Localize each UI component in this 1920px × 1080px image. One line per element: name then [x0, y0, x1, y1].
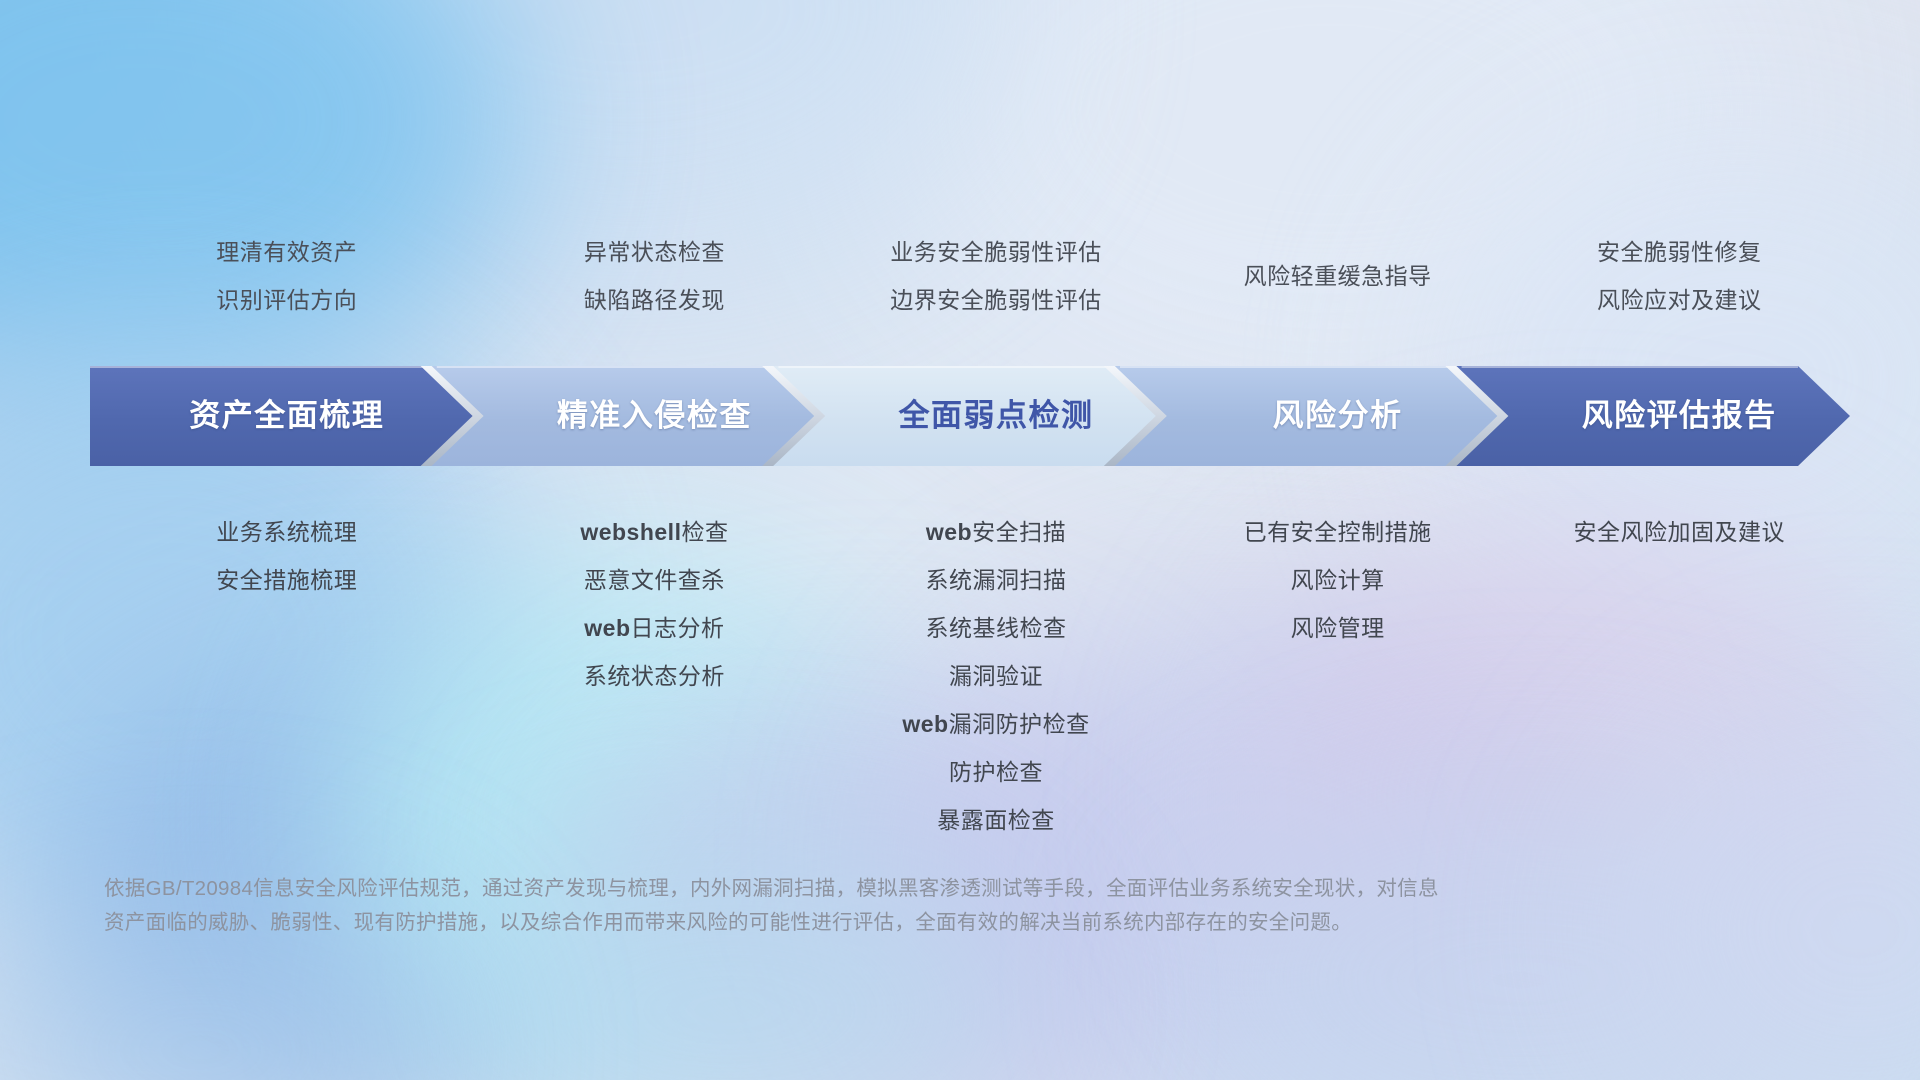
- chevron-stage-1[interactable]: [90, 366, 484, 466]
- footer-description: 依据GB/T20984信息安全风险评估规范，通过资产发现与梳理，内外网漏洞扫描，…: [104, 872, 1804, 940]
- chevron-stage-5[interactable]: [1456, 366, 1850, 466]
- chevron-stage-4[interactable]: [1115, 366, 1509, 466]
- chevron-shapes: [90, 366, 1850, 466]
- diagram-root: 理清有效资产识别评估方向异常状态检查缺陷路径发现业务安全脆弱性评估边界安全脆弱性…: [0, 0, 1920, 1080]
- chevron-stage-3[interactable]: [773, 366, 1167, 466]
- chevron-stage-2[interactable]: [432, 366, 826, 466]
- caption-line: web漏洞防护检查: [736, 700, 1256, 748]
- caption-line: 防护检查: [736, 748, 1256, 796]
- footer-line-1: 依据GB/T20984信息安全风险评估规范，通过资产发现与梳理，内外网漏洞扫描，…: [104, 872, 1804, 906]
- below-captions-stage-5: 安全风险加固及建议: [1419, 508, 1920, 556]
- caption-line: 漏洞验证: [736, 652, 1256, 700]
- caption-line: 安全脆弱性修复: [1419, 228, 1920, 276]
- caption-line: 风险管理: [1078, 604, 1598, 652]
- process-chevron-banner: 资产全面梳理精准入侵检查全面弱点检测风险分析风险评估报告: [90, 366, 1850, 466]
- above-captions-stage-5: 安全脆弱性修复风险应对及建议: [1419, 228, 1920, 324]
- caption-line: 风险应对及建议: [1419, 276, 1920, 324]
- caption-line: 暴露面检查: [736, 796, 1256, 844]
- footer-line-2: 资产面临的威胁、脆弱性、现有防护措施，以及综合作用而带来风险的可能性进行评估，全…: [104, 906, 1804, 940]
- caption-line: 风险计算: [1078, 556, 1598, 604]
- caption-line: 安全风险加固及建议: [1419, 508, 1920, 556]
